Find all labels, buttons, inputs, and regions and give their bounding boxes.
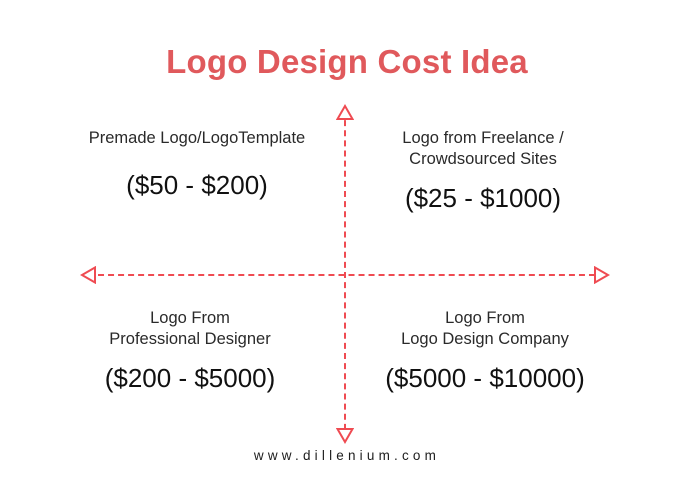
infographic-canvas: Logo Design Cost Idea Premade Logo/LogoT… [0, 0, 694, 485]
quadrant-bottom-right-label-line1: Logo From [445, 309, 525, 327]
quadrant-top-right-label: Logo from Freelance / Crowdsourced Sites [358, 128, 608, 170]
quadrant-bottom-left: Logo From Professional Designer ($200 - … [65, 308, 315, 394]
quadrant-top-right-price: ($25 - $1000) [358, 182, 608, 214]
quadrant-top-left: Premade Logo/LogoTemplate ($50 - $200) [72, 128, 322, 201]
quadrant-bottom-left-price: ($200 - $5000) [65, 362, 315, 394]
quadrant-top-left-label-line1: Premade Logo/LogoTemplate [89, 129, 305, 147]
horizontal-axis-line [88, 274, 605, 276]
quadrant-bottom-right-price: ($5000 - $10000) [360, 362, 610, 394]
quadrant-top-right-label-line1: Logo from Freelance / [402, 129, 563, 147]
page-title: Logo Design Cost Idea [0, 42, 694, 82]
vertical-axis-line [344, 110, 346, 440]
arrow-up-icon [336, 104, 354, 122]
quadrant-bottom-left-label-line2: Professional Designer [109, 330, 270, 348]
quadrant-top-right: Logo from Freelance / Crowdsourced Sites… [358, 128, 608, 214]
quadrant-top-right-label-line2: Crowdsourced Sites [409, 150, 557, 168]
quadrant-top-left-price: ($50 - $200) [72, 169, 322, 201]
quadrant-bottom-right: Logo From Logo Design Company ($5000 - $… [360, 308, 610, 394]
arrow-left-icon [80, 266, 98, 284]
footer-website-url: www.dillenium.com [0, 448, 694, 463]
quadrant-bottom-right-label: Logo From Logo Design Company [360, 308, 610, 350]
quadrant-bottom-left-label: Logo From Professional Designer [65, 308, 315, 350]
arrow-right-icon [592, 266, 610, 284]
arrow-down-icon [336, 426, 354, 444]
quadrant-bottom-right-label-line2: Logo Design Company [401, 330, 569, 348]
quadrant-top-left-label: Premade Logo/LogoTemplate [72, 128, 322, 149]
quadrant-bottom-left-label-line1: Logo From [150, 309, 230, 327]
